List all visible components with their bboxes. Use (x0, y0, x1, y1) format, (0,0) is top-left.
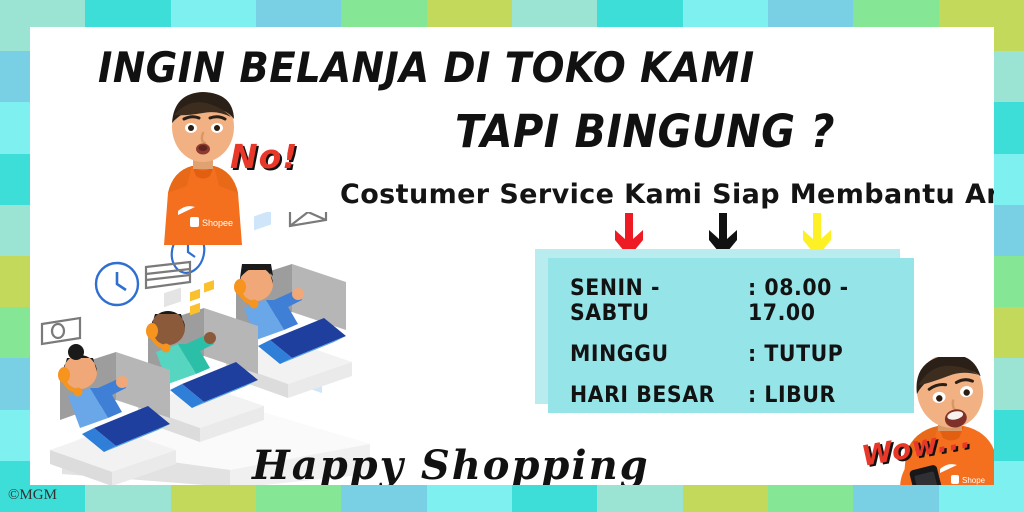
border-block (597, 0, 682, 30)
hours-time-value: : TUTUP (748, 342, 843, 367)
border-strip-right (992, 0, 1024, 512)
border-block (853, 482, 938, 512)
border-block (256, 482, 341, 512)
border-block (992, 51, 1024, 102)
border-block (0, 0, 32, 51)
border-block (0, 410, 32, 461)
hours-day-label: SENIN - SABTU (570, 276, 736, 326)
border-block (992, 461, 1024, 512)
border-block (992, 102, 1024, 153)
border-block (427, 482, 512, 512)
border-block (341, 0, 426, 30)
border-block (0, 358, 32, 409)
border-block (992, 307, 1024, 358)
border-block (683, 482, 768, 512)
border-block (992, 154, 1024, 205)
border-block (0, 154, 32, 205)
border-block (512, 0, 597, 30)
signature-happy-shopping: Happy Shopping (252, 442, 650, 485)
border-strip-top (0, 0, 1024, 30)
hours-day-label: MINGGU (570, 342, 736, 367)
border-block (0, 51, 32, 102)
border-block (0, 102, 32, 153)
border-block (0, 256, 32, 307)
hours-day-label: HARI BESAR (570, 383, 736, 408)
banner-canvas: Shopee (30, 27, 994, 485)
watermark-label: ©MGM (8, 487, 57, 504)
border-block (853, 0, 938, 30)
border-block (992, 205, 1024, 256)
border-block (85, 0, 170, 30)
border-block (85, 482, 170, 512)
border-block (341, 482, 426, 512)
headline-line-2: TAPI BINGUNG ? (455, 105, 835, 158)
border-block (597, 482, 682, 512)
border-block (683, 0, 768, 30)
border-block (768, 482, 853, 512)
border-block (0, 205, 32, 256)
svg-text:Shopee: Shopee (202, 218, 233, 228)
border-block (171, 0, 256, 30)
border-strip-bottom (0, 482, 1024, 512)
border-block (256, 0, 341, 30)
border-block (427, 0, 512, 30)
border-block (992, 410, 1024, 461)
border-block (992, 0, 1024, 51)
border-block (512, 482, 597, 512)
border-block (992, 358, 1024, 409)
subheadline: Costumer Service Kami Siap Membantu Anda… (340, 179, 994, 210)
border-strip-left (0, 0, 32, 512)
border-block (992, 256, 1024, 307)
border-block (0, 307, 32, 358)
border-block (171, 482, 256, 512)
headline-line-1: INGIN BELANJA DI TOKO KAMI (98, 43, 755, 92)
shout-no-label: No! (230, 137, 298, 176)
hours-time-value: : 08.00 - 17.00 (748, 276, 902, 326)
hours-time-value: : LIBUR (748, 383, 836, 408)
promotional-banner: Shopee (0, 0, 1024, 512)
border-block (768, 0, 853, 30)
hours-row: SENIN - SABTU : 08.00 - 17.00 (570, 276, 914, 326)
